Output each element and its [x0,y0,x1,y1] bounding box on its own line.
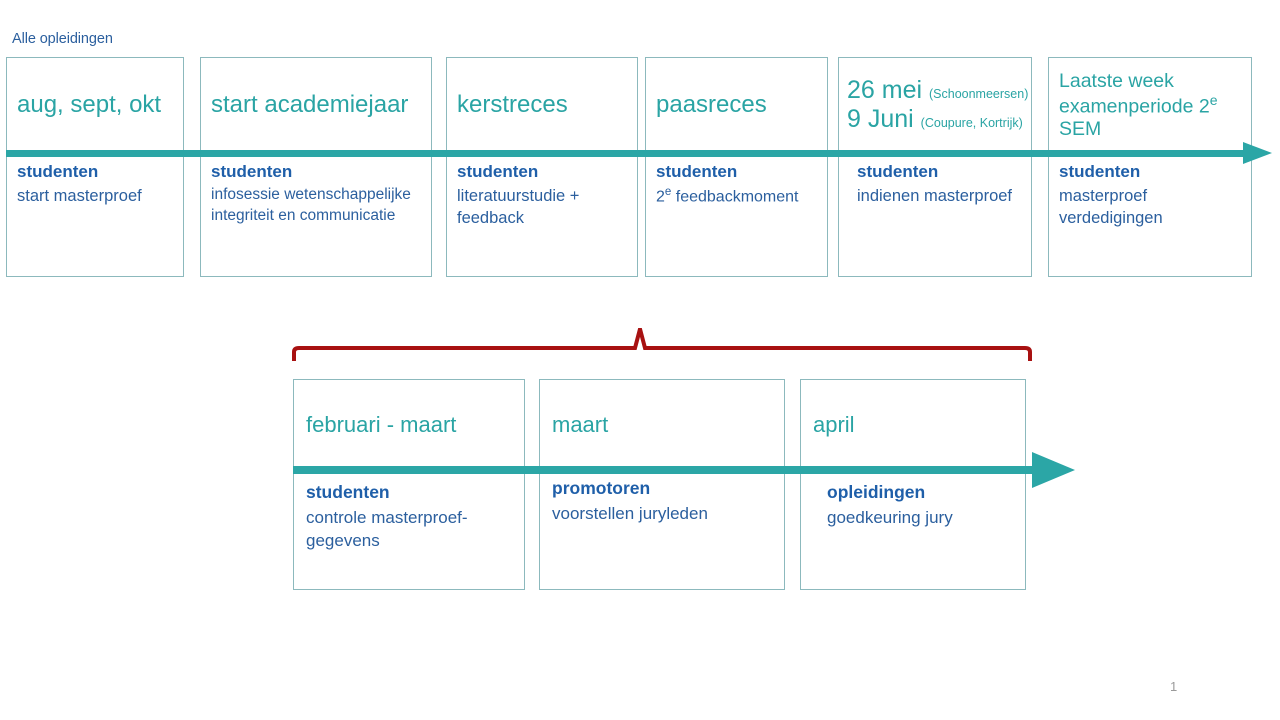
card-period-header: maart [540,380,784,469]
card-body: studenten start masterproef [7,161,183,207]
card-period-text: Laatste week examenperiode 2e SEM [1059,70,1241,141]
card-date-line-2: 9 Juni (Coupure, Kortrijk) [847,105,1023,134]
timeline-card-laatste-week-examenperiode[interactable]: Laatste week examenperiode 2e SEM studen… [1048,57,1252,277]
card-actor: studenten [306,480,512,505]
timeline-arrow-line-top [6,150,1249,157]
slide-canvas: Alle opleidingen aug, sept, okt studente… [0,0,1280,720]
card-period-header: start academiejaar [201,58,431,152]
card-actor: studenten [211,161,421,184]
card-body: studenten controle masterproef-gegevens [294,480,524,553]
card-period-text: aug, sept, okt [17,91,173,119]
timeline-arrow-line-bottom [293,466,1040,474]
card-period-text: kerstreces [457,91,627,119]
card-period-text: start academiejaar [211,91,421,119]
card-task: voorstellen juryleden [552,502,772,526]
card-task: indienen masterproef [857,185,1013,207]
timeline-card-aug-sept-okt[interactable]: aug, sept, okt studenten start masterpro… [6,57,184,277]
card-task: goedkeuring jury [827,506,999,530]
arrow-right-icon-top [1243,142,1272,164]
card-period-text: april [813,412,1013,437]
timeline-card-april[interactable]: april opleidingen goedkeuring jury [800,379,1026,590]
card-date-1-location: (Schoonmeersen) [929,87,1028,101]
card-actor: studenten [17,161,173,184]
page-number: 1 [1170,679,1177,694]
card-date-1: 26 mei [847,76,922,104]
card-period-text: februari - maart [306,412,512,437]
red-grouping-bracket [290,328,1034,362]
card-period-header: april [801,380,1025,469]
card-actor: studenten [857,161,1013,184]
card-period-header: kerstreces [447,58,637,152]
card-period-text: paasreces [656,91,817,119]
card-task: controle masterproef-gegevens [306,506,512,554]
timeline-card-maart[interactable]: maart promotoren voorstellen juryleden [539,379,785,590]
card-period-header: 26 mei (Schoonmeersen) 9 Juni (Coupure, … [839,58,1031,152]
card-body: studenten infosessie wetenschappelijke i… [201,161,431,227]
card-date-line-1: 26 mei (Schoonmeersen) [847,76,1023,105]
timeline-card-februari-maart[interactable]: februari - maart studenten controle mast… [293,379,525,590]
card-body: studenten masterproef verdedigingen [1049,161,1251,229]
card-body: opleidingen goedkeuring jury [801,480,1025,529]
timeline-card-paasreces[interactable]: paasreces studenten 2e feedbackmoment [645,57,828,277]
card-task: literatuurstudie + feedback [457,185,627,230]
timeline-card-kerstreces[interactable]: kerstreces studenten literatuurstudie + … [446,57,638,277]
card-period-header: februari - maart [294,380,524,469]
section-label-alle-opleidingen: Alle opleidingen [12,31,113,47]
card-actor: studenten [656,161,817,184]
card-actor: promotoren [552,476,772,501]
card-body: studenten 2e feedbackmoment [646,161,827,208]
card-task: 2e feedbackmoment [656,185,817,208]
card-task: start masterproef [17,185,173,207]
timeline-card-indiendatum[interactable]: 26 mei (Schoonmeersen) 9 Juni (Coupure, … [838,57,1032,277]
card-period-header: Laatste week examenperiode 2e SEM [1049,58,1251,152]
card-task: infosessie wetenschappelijke integriteit… [211,185,421,227]
timeline-card-start-academiejaar[interactable]: start academiejaar studenten infosessie … [200,57,432,277]
card-body: studenten literatuurstudie + feedback [447,161,637,229]
card-period-text: maart [552,412,772,437]
card-body: promotoren voorstellen juryleden [540,476,784,525]
card-task: masterproef verdedigingen [1059,185,1241,230]
card-period-header: paasreces [646,58,827,152]
card-date-2: 9 Juni [847,105,914,133]
card-date-2-location: (Coupure, Kortrijk) [921,116,1023,130]
card-actor: studenten [1059,161,1241,184]
bracket-shape-icon [290,328,1034,362]
card-period-header: aug, sept, okt [7,58,183,152]
arrow-right-icon-bottom [1032,452,1075,488]
card-actor: studenten [457,161,627,184]
card-body: studenten indienen masterproef [839,161,1031,207]
card-actor: opleidingen [827,480,999,505]
